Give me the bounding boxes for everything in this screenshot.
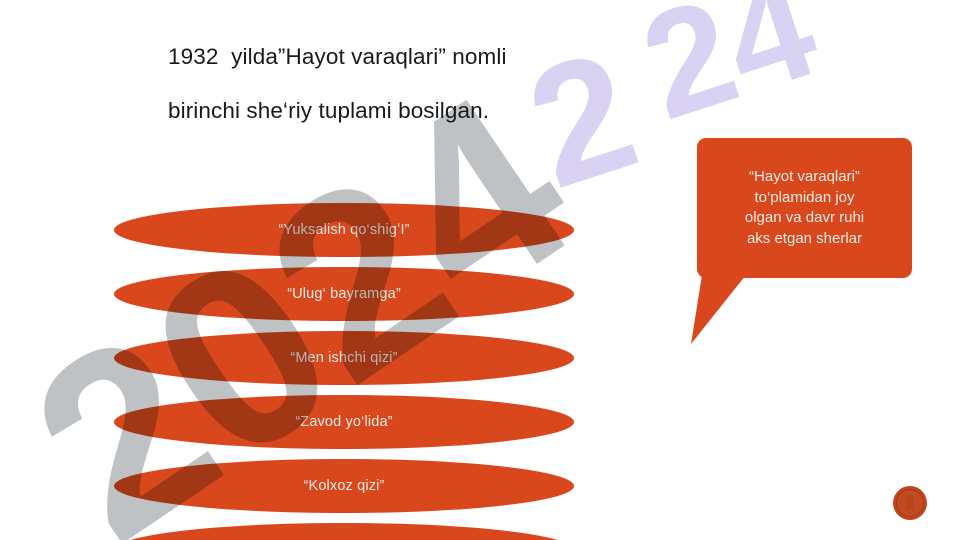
slide-canvas: 24 2 1932 yilda”Hayot varaqlari” nomli b…	[0, 0, 961, 540]
poem-list: “Yuksalish qo‘shigʻI” “Ulug‘ bayramga” “…	[114, 203, 574, 540]
list-item[interactable]: “Kolxoz qizi”	[114, 459, 574, 513]
badge-glyph	[906, 495, 913, 510]
list-item-label: “Zavod yo‘lida”	[295, 414, 392, 430]
corner-badge-icon[interactable]	[893, 486, 927, 520]
list-item[interactable]: “Zavod yo‘lida”	[114, 395, 574, 449]
callout-line-4: aks etgan sherlar	[745, 229, 864, 250]
callout-line-1: “Hayot varaqlari”	[745, 167, 864, 188]
list-item-label: “Yuksalish qo‘shigʻI”	[278, 222, 409, 238]
list-item-label: “Ulug‘ bayramga”	[287, 286, 401, 302]
callout-line-3: olgan va davr ruhi	[745, 208, 864, 229]
callout-body: “Hayot varaqlari” to‘plamidan joy olgan …	[697, 138, 912, 278]
callout-bubble: “Hayot varaqlari” to‘plamidan joy olgan …	[697, 138, 912, 278]
slide-heading: 1932 yilda”Hayot varaqlari” nomli birinc…	[168, 30, 688, 138]
list-item-label: “Kolxoz qizi”	[304, 478, 385, 494]
list-item[interactable]: “Ulug‘ bayramga”	[114, 267, 574, 321]
callout-text: “Hayot varaqlari” to‘plamidan joy olgan …	[745, 167, 864, 249]
heading-line-1: 1932 yilda”Hayot varaqlari” nomli	[168, 30, 688, 84]
list-item-label: “Men ishchi qizi”	[290, 350, 397, 366]
list-item[interactable]: “Yuksalish qo‘shigʻI”	[114, 203, 574, 257]
heading-line-2: birinchi she‘riy tuplami bosilgan.	[168, 84, 688, 138]
list-item[interactable]: “Ozod qiz”	[114, 523, 574, 540]
list-item[interactable]: “Men ishchi qizi”	[114, 331, 574, 385]
callout-line-2: to‘plamidan joy	[745, 188, 864, 209]
